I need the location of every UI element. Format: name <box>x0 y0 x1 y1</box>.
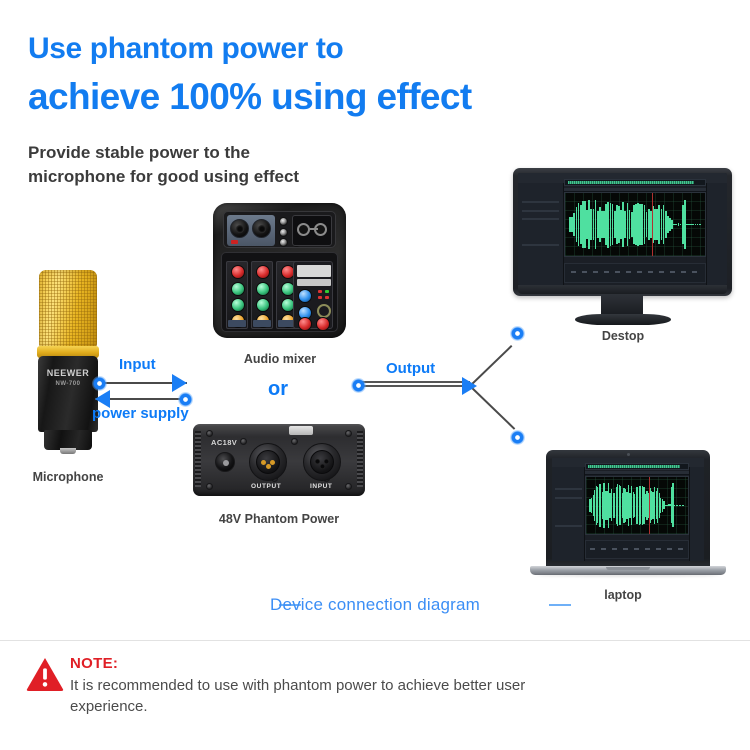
microphone-connector-pin <box>60 448 76 454</box>
phantom-ac-label: AC18V <box>211 438 237 447</box>
phantom-screw <box>206 430 213 437</box>
phantom-screw <box>291 438 298 445</box>
daw-right-panel <box>689 467 704 561</box>
mixer-master-section <box>293 261 333 329</box>
mixer-led-4 <box>325 296 329 299</box>
microphone-base <box>44 430 92 450</box>
monitor-chin <box>518 285 727 294</box>
mixer-eq-knob-low <box>256 298 270 312</box>
phantom-heatsink-left <box>195 431 201 487</box>
label-output: Output <box>386 360 435 377</box>
or-label: or <box>268 378 288 401</box>
mixer-red-indicator <box>231 240 238 244</box>
mixer-xlr-jack-1 <box>230 219 249 238</box>
note-text: It is recommended to use with phantom po… <box>70 675 570 717</box>
mixer-xlr-jack-2 <box>252 219 271 238</box>
node-laptop <box>510 430 525 445</box>
microphone-model-text: NW-700 <box>38 381 98 387</box>
caption-phantom-power: 48V Phantom Power <box>193 512 365 526</box>
divider <box>0 640 750 641</box>
caption-desktop: Destop <box>568 329 678 343</box>
arrowhead-input <box>172 374 187 392</box>
mixer-aux-bridge <box>308 228 318 230</box>
mixer-button-row <box>297 279 331 286</box>
arrowhead-output <box>462 377 477 395</box>
mixer-eq-knob-high <box>256 282 270 296</box>
caption-audio-mixer: Audio mixer <box>225 352 335 366</box>
audio-waveform <box>589 477 684 535</box>
phantom-xlr-inner <box>256 450 280 474</box>
phantom-heatsink-right <box>357 431 363 487</box>
mixer-eq-knob-low <box>231 298 245 312</box>
mixer-effect-knob-1 <box>298 289 312 303</box>
mixer-main-knob <box>298 317 312 331</box>
laptop-shadow <box>536 574 720 577</box>
daw-waveform-view <box>564 192 706 257</box>
mixer-display <box>297 265 331 277</box>
infographic-page: Use phantom power to achieve 100% using … <box>0 0 750 750</box>
phantom-output-xlr-male <box>249 443 287 481</box>
phantom-xlr-inner <box>310 450 334 474</box>
phantom-top-tab <box>289 426 313 435</box>
microphone-brand-text: NEEWER <box>38 368 98 378</box>
node-power-supply-start <box>178 392 193 407</box>
microphone-illustration: NEEWER NW-700 <box>22 270 114 455</box>
phantom-input-label: INPUT <box>310 483 333 490</box>
caption-microphone: Microphone <box>12 470 124 484</box>
mixer-headphone-icon <box>317 304 331 318</box>
daw-playhead <box>652 193 653 256</box>
phantom-screw <box>345 430 352 437</box>
mixer-led-1 <box>318 290 322 293</box>
phantom-power-illustration: AC18V OUTPUT INPUT <box>193 424 365 496</box>
laptop-webcam-icon <box>627 453 630 456</box>
label-input: Input <box>119 356 156 373</box>
mixer-rca-jack-5 <box>279 238 288 247</box>
mixer-eq-knob-high <box>231 282 245 296</box>
headline-line-1: Use phantom power to <box>28 30 343 68</box>
daw-overview-strip <box>564 179 706 187</box>
mixer-xlr-panel <box>227 215 275 246</box>
mixer-led-3 <box>318 296 322 299</box>
mixer-rca-jack-3 <box>279 228 288 237</box>
mixer-channel-strip-2 <box>251 261 273 329</box>
monitor-bezel <box>513 168 732 296</box>
mixer-channel-section <box>221 252 338 332</box>
daw-waveform-view <box>585 476 688 536</box>
daw-playhead <box>649 477 650 535</box>
phantom-screw <box>345 483 352 490</box>
daw-right-panel <box>706 183 727 285</box>
laptop-lid <box>546 450 710 568</box>
headline-line-2: achieve 100% using effect <box>28 74 472 120</box>
diagram-caption: Device connection diagram <box>0 595 750 615</box>
node-desktop <box>510 326 525 341</box>
daw-transport-panel <box>564 263 706 283</box>
mixer-channel-label <box>253 320 271 327</box>
laptop-notch <box>606 567 650 570</box>
phantom-screw <box>240 438 247 445</box>
audio-waveform <box>569 193 701 256</box>
mixer-gain-knob <box>256 265 270 279</box>
monitor-stand-neck <box>601 294 643 316</box>
mixer-gain-knob <box>231 265 245 279</box>
laptop-illustration <box>530 450 726 584</box>
phantom-xlr-pin <box>270 460 275 465</box>
daw-transport-panel <box>585 540 688 559</box>
node-input-start <box>92 376 107 391</box>
microphone-body: NEEWER NW-700 <box>38 356 98 432</box>
phantom-xlr-hole <box>320 464 325 469</box>
mixer-top-panel <box>223 211 336 248</box>
daw-left-panel <box>518 183 564 285</box>
daw-overview-strip <box>585 463 688 470</box>
phantom-screw <box>206 483 213 490</box>
microphone-grille <box>39 270 97 348</box>
note-label: NOTE: <box>70 655 118 672</box>
daw-left-panel <box>552 467 585 561</box>
mixer-rca-jack-1 <box>279 217 288 226</box>
subheading: Provide stable power to the microphone f… <box>28 141 328 189</box>
audio-mixer-illustration <box>213 203 346 338</box>
caption-dash-right <box>549 604 571 606</box>
phantom-xlr-pin <box>266 464 271 469</box>
note-block: NOTE: It is recommended to use with phan… <box>26 655 586 725</box>
desktop-monitor-illustration <box>513 168 732 330</box>
monitor-stand-foot <box>575 314 671 325</box>
phantom-xlr-pin <box>261 460 266 465</box>
mixer-aux-panel <box>292 215 332 246</box>
mixer-channel-strip-1 <box>226 261 248 329</box>
phantom-dc-jack <box>215 452 235 472</box>
line-output <box>360 381 470 387</box>
node-output-start <box>351 378 366 393</box>
mixer-led-2 <box>325 290 329 293</box>
mixer-phones-knob <box>316 317 330 331</box>
warning-triangle-icon <box>26 657 64 691</box>
laptop-screen-daw <box>552 458 704 561</box>
phantom-output-label: OUTPUT <box>251 483 281 490</box>
arrowhead-power-supply <box>95 390 110 408</box>
phantom-input-xlr-female <box>303 443 341 481</box>
monitor-screen-daw <box>518 173 727 285</box>
phantom-xlr-hole <box>315 459 320 464</box>
phantom-xlr-hole <box>324 459 329 464</box>
mixer-channel-label <box>228 320 246 327</box>
